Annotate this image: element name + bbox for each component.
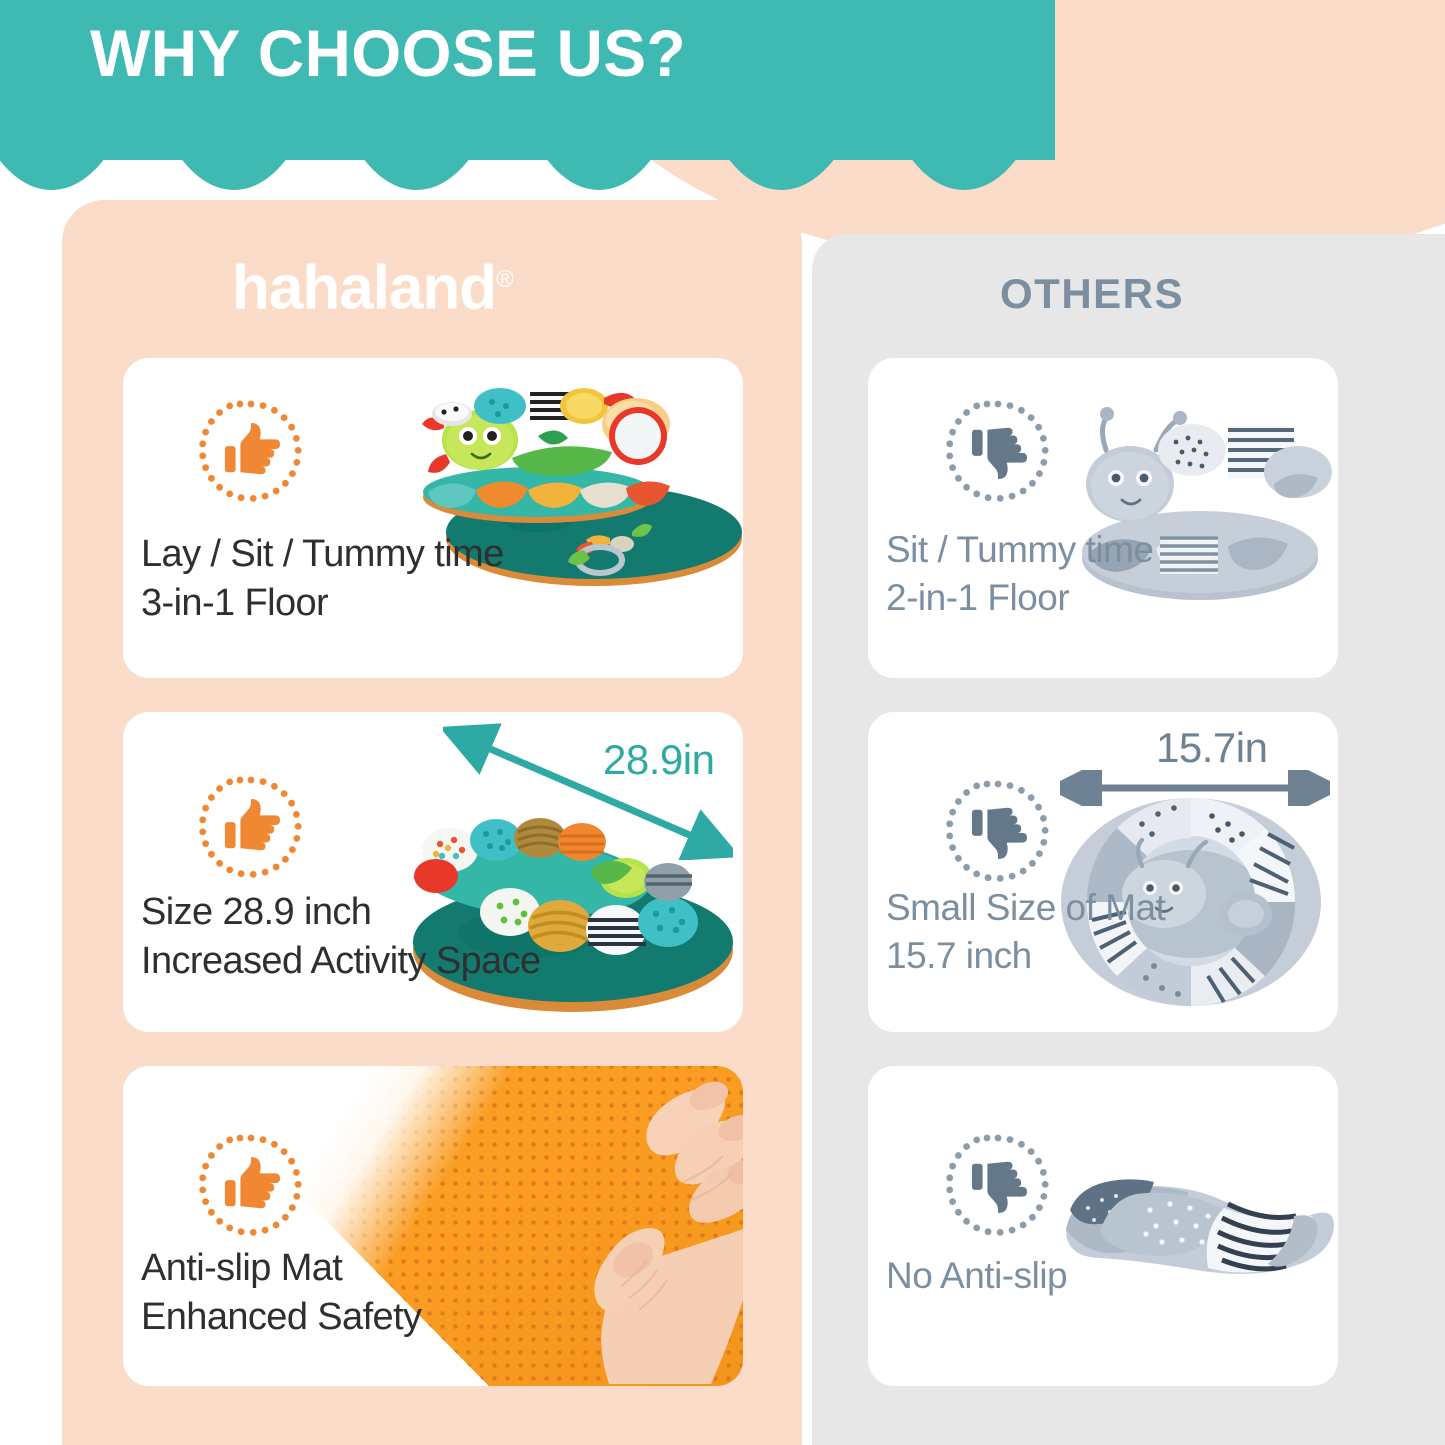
- others-row1-line1: Sit / Tummy time: [886, 529, 1153, 570]
- others-row1-line2: 2-in-1 Floor: [886, 577, 1069, 618]
- thumbs-up-icon: [223, 798, 281, 856]
- thumbs-up-badge: [199, 776, 303, 880]
- ours-card-row1: Lay / Sit / Tummy time3-in-1 Floor: [123, 358, 743, 678]
- gray-curved-pillow-image: [1048, 1138, 1338, 1308]
- ours-row3-text: Anti-slip MatEnhanced Safety: [141, 1244, 421, 1343]
- others-card-row3: No Anti-slip: [868, 1066, 1338, 1386]
- ours-row1-line2: 3-in-1 Floor: [141, 582, 328, 624]
- page-title: WHY CHOOSE US?: [90, 8, 686, 98]
- thumbs-down-badge: [946, 400, 1050, 504]
- ours-row1-line1: Lay / Sit / Tummy time: [141, 533, 504, 575]
- measurement-arrow-horizontal: [1060, 770, 1330, 806]
- others-size-measurement: 15.7in: [1156, 724, 1267, 772]
- ours-card-row2: 28.9in Size 28.9 inch: [123, 712, 743, 1032]
- others-card-row1: Sit / Tummy time2-in-1 Floor: [868, 358, 1338, 678]
- brand-name: hahaland: [232, 254, 496, 323]
- thumbs-down-icon: [970, 802, 1028, 860]
- thumbs-up-icon: [223, 422, 281, 480]
- others-row2-line1: Small Size of Mat: [886, 887, 1165, 928]
- thumbs-down-icon: [970, 1156, 1028, 1214]
- ours-row2-line1: Size 28.9 inch: [141, 891, 371, 933]
- ours-card-row3: Anti-slip MatEnhanced Safety: [123, 1066, 743, 1386]
- thumbs-down-badge: [946, 1134, 1050, 1238]
- thumbs-down-badge: [946, 780, 1050, 884]
- others-card-row2: 15.7in Small Size of: [868, 712, 1338, 1032]
- brand-logo: hahaland®: [232, 243, 513, 326]
- thumbs-up-badge: [199, 400, 303, 504]
- registered-trademark-icon: ®: [496, 266, 513, 293]
- others-row1-text: Sit / Tummy time2-in-1 Floor: [886, 526, 1153, 622]
- thumbs-up-icon: [223, 1156, 281, 1214]
- ours-row3-line1: Anti-slip Mat: [141, 1247, 342, 1289]
- others-heading: OTHERS: [1000, 268, 1184, 320]
- ours-size-measurement: 28.9in: [603, 736, 714, 784]
- others-row2-text: Small Size of Mat15.7 inch: [886, 884, 1165, 980]
- ours-row2-text: Size 28.9 inchIncreased Activity Space: [141, 888, 541, 987]
- thumbs-down-icon: [970, 422, 1028, 480]
- ours-row2-line2: Increased Activity Space: [141, 940, 541, 982]
- others-row3-text: No Anti-slip: [886, 1252, 1067, 1300]
- others-row2-line2: 15.7 inch: [886, 935, 1032, 976]
- others-row3-line1: No Anti-slip: [886, 1255, 1067, 1296]
- ours-row3-line2: Enhanced Safety: [141, 1296, 421, 1338]
- infographic-root: WHY CHOOSE US? hahaland® OTHERS: [0, 0, 1445, 1445]
- hand-on-mat-image: [513, 1072, 743, 1386]
- thumbs-up-badge: [199, 1134, 303, 1238]
- ours-row1-text: Lay / Sit / Tummy time3-in-1 Floor: [141, 530, 504, 629]
